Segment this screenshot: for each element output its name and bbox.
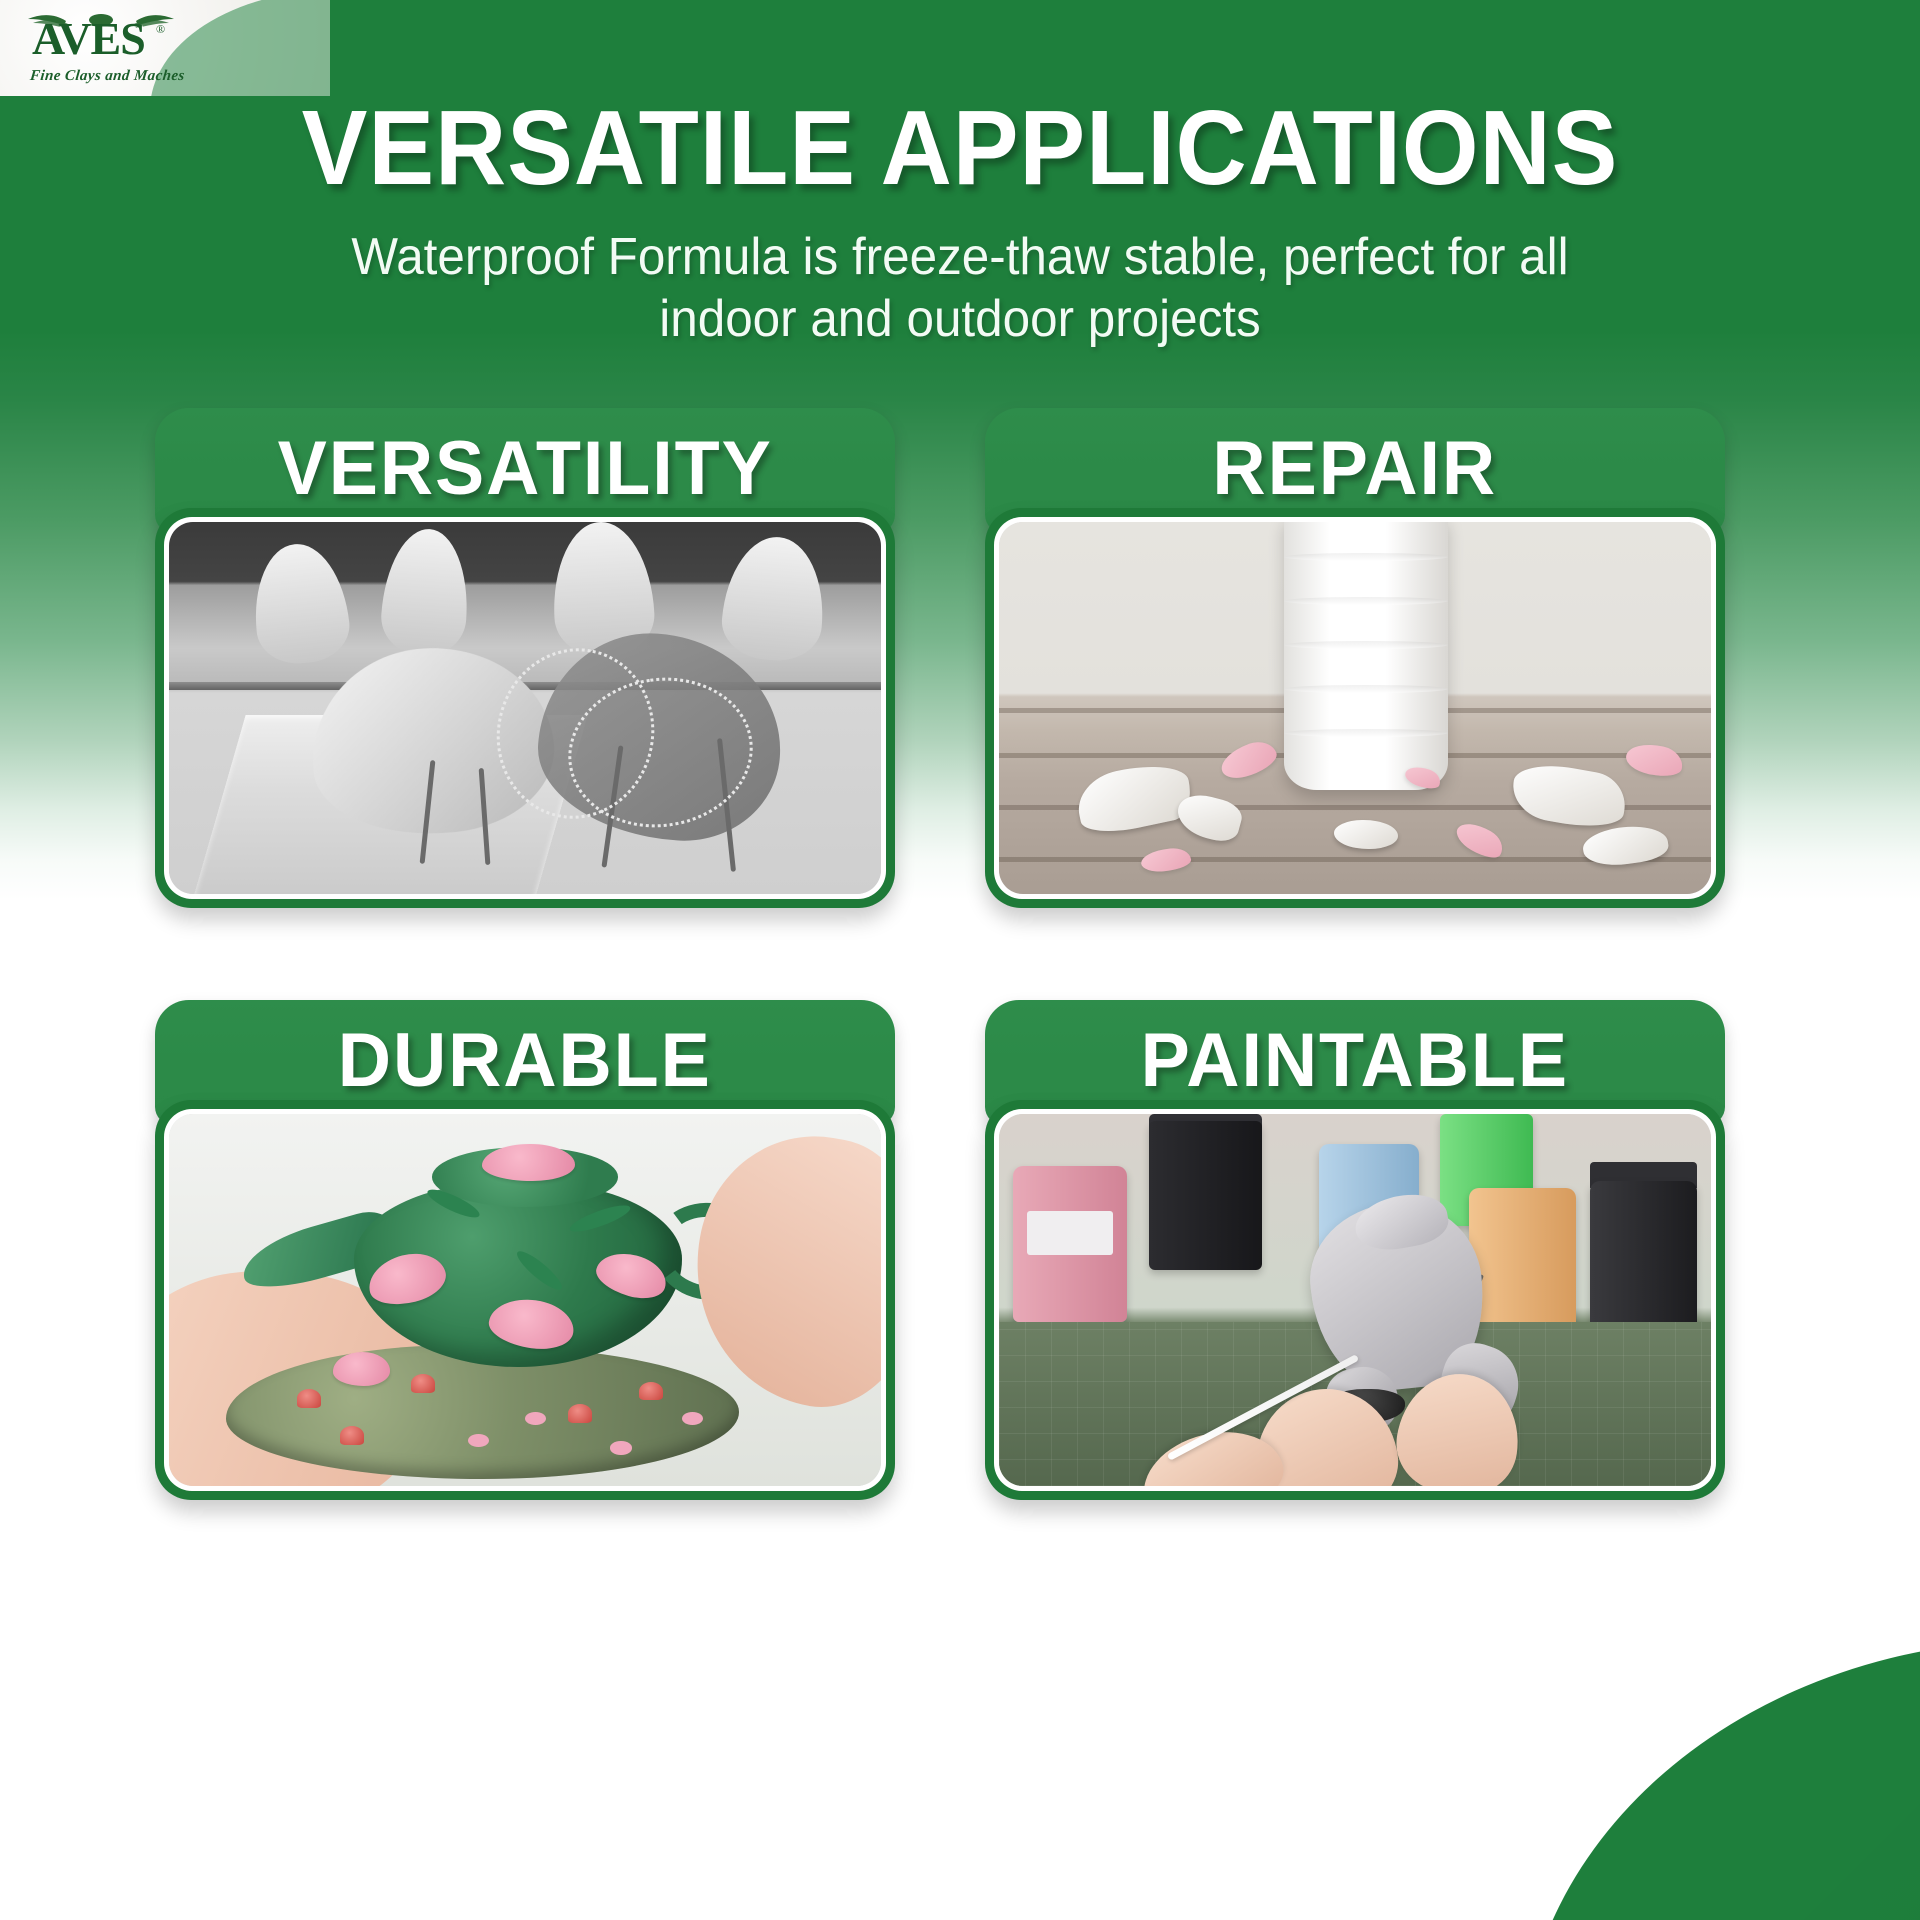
photo-durable-teapot <box>169 1114 881 1486</box>
card-photo-inset <box>164 1109 886 1491</box>
card-photo <box>169 1114 881 1486</box>
card-photo-inset <box>164 517 886 899</box>
logo-tagline: Fine Clays and Maches <box>29 68 185 85</box>
card-title: VERSATILITY <box>277 431 772 511</box>
feature-card-paintable[interactable]: PAINTABLE <box>985 1000 1725 1610</box>
card-title: DURABLE <box>338 1023 712 1103</box>
photo-versatility-sculptures <box>169 522 881 894</box>
card-photo-frame <box>985 1100 1725 1500</box>
feature-card-durable[interactable]: DURABLE <box>155 1000 895 1610</box>
card-photo <box>999 522 1711 894</box>
promo-graphic-canvas: AVES ® Fine Clays and Maches VERSATILE A… <box>0 0 1920 1920</box>
feature-card-versatility[interactable]: VERSATILITY <box>155 408 895 1018</box>
logo-wordmark: AVES <box>32 16 145 62</box>
feature-card-grid: VERSATILITY <box>155 408 1765 1868</box>
feature-card-repair[interactable]: REPAIR <box>985 408 1725 1018</box>
card-title: PAINTABLE <box>1141 1023 1569 1103</box>
card-photo <box>999 1114 1711 1486</box>
card-photo-frame <box>155 1100 895 1500</box>
logo-lockup: AVES ® Fine Clays and Maches <box>14 6 194 88</box>
card-photo-frame <box>155 508 895 908</box>
page-title: VERSATILE APPLICATIONS <box>67 96 1853 200</box>
photo-paintable-miniature <box>999 1114 1711 1486</box>
photo-repair-vase <box>999 522 1711 894</box>
card-photo-inset <box>994 1109 1716 1491</box>
card-photo-frame <box>985 508 1725 908</box>
header-block: VERSATILE APPLICATIONS Waterproof Formul… <box>0 96 1920 350</box>
registered-mark: ® <box>156 22 165 37</box>
brand-logo-badge: AVES ® Fine Clays and Maches <box>0 0 330 96</box>
card-photo <box>169 522 881 894</box>
page-subtitle: Waterproof Formula is freeze-thaw stable… <box>48 226 1872 350</box>
card-title: REPAIR <box>1213 431 1498 511</box>
card-photo-inset <box>994 517 1716 899</box>
